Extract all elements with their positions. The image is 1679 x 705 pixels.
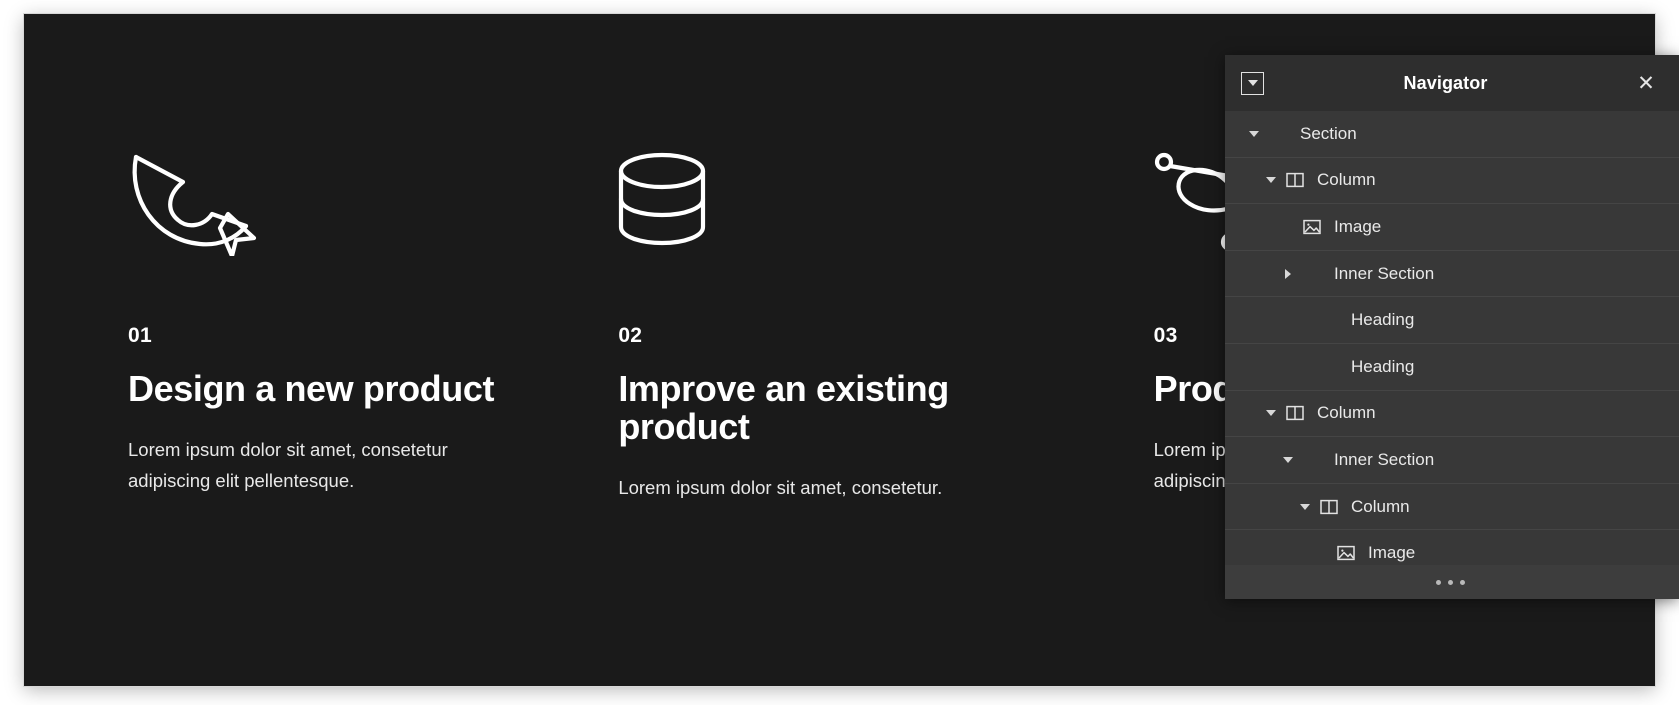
tree-row-label: Heading (1342, 357, 1414, 377)
tree-row[interactable]: Image (1225, 530, 1679, 565)
tree-row[interactable]: Heading (1225, 344, 1679, 391)
tree-row-label: Image (1359, 543, 1415, 563)
feature-number: 02 (618, 324, 1052, 348)
tree-row-label: Inner Section (1325, 450, 1434, 470)
tree-row-label: Image (1325, 217, 1381, 237)
screen-root: 01 Design a new product Lorem ipsum dolo… (0, 0, 1679, 705)
tree-row[interactable]: Column (1225, 484, 1679, 531)
chevron-down-icon[interactable] (1277, 457, 1299, 463)
navigator-header: Navigator ✕ (1225, 55, 1679, 111)
database-stack-icon (618, 152, 1052, 262)
feature-column[interactable]: 01 Design a new product Lorem ipsum dolo… (32, 152, 570, 678)
resize-dots-icon[interactable] (1225, 565, 1679, 599)
tree-row-label: Inner Section (1325, 264, 1434, 284)
feature-body: Lorem ipsum dolor sit amet, consetetur. (618, 472, 993, 503)
image-icon (1333, 545, 1359, 561)
chevron-down-icon[interactable] (1294, 504, 1316, 510)
tree-row-label: Section (1291, 124, 1357, 144)
tree-row-label: Column (1342, 497, 1410, 517)
dock-dropdown-icon[interactable] (1241, 72, 1264, 95)
navigator-title: Navigator (1264, 73, 1633, 94)
feature-title: Improve an existing product (618, 370, 1052, 446)
navigator-tree[interactable]: SectionColumnImageInner SectionHeadingHe… (1225, 111, 1679, 565)
chevron-down-icon (1248, 80, 1258, 86)
feature-body: Lorem ipsum dolor sit amet, consetetur a… (128, 434, 503, 496)
column-icon (1282, 405, 1308, 421)
tree-row[interactable]: Heading (1225, 297, 1679, 344)
chevron-down-icon[interactable] (1243, 131, 1265, 137)
chevron-down-icon[interactable] (1260, 410, 1282, 416)
tree-row[interactable]: Image (1225, 204, 1679, 251)
tree-row-label: Heading (1342, 310, 1414, 330)
resize-handle-dots (1436, 580, 1465, 585)
chevron-right-icon[interactable] (1277, 269, 1299, 279)
image-icon (1299, 219, 1325, 235)
feature-title: Design a new product (128, 370, 514, 408)
tree-row[interactable]: Column (1225, 158, 1679, 205)
chevron-down-icon[interactable] (1260, 177, 1282, 183)
tree-row[interactable]: Inner Section (1225, 251, 1679, 298)
column-icon (1316, 499, 1342, 515)
feature-column[interactable]: 02 Improve an existing product Lorem ips… (570, 152, 1108, 678)
feature-number: 01 (128, 324, 514, 348)
tree-row[interactable]: Section (1225, 111, 1679, 158)
tree-row-label: Column (1308, 403, 1376, 423)
navigator-panel: Navigator ✕ SectionColumnImageInner Sect… (1225, 55, 1679, 599)
column-icon (1282, 172, 1308, 188)
tree-row[interactable]: Inner Section (1225, 437, 1679, 484)
curved-arrow-cursor-icon (128, 152, 514, 262)
tree-row-label: Column (1308, 170, 1376, 190)
close-icon[interactable]: ✕ (1633, 70, 1659, 96)
tree-row[interactable]: Column (1225, 391, 1679, 438)
